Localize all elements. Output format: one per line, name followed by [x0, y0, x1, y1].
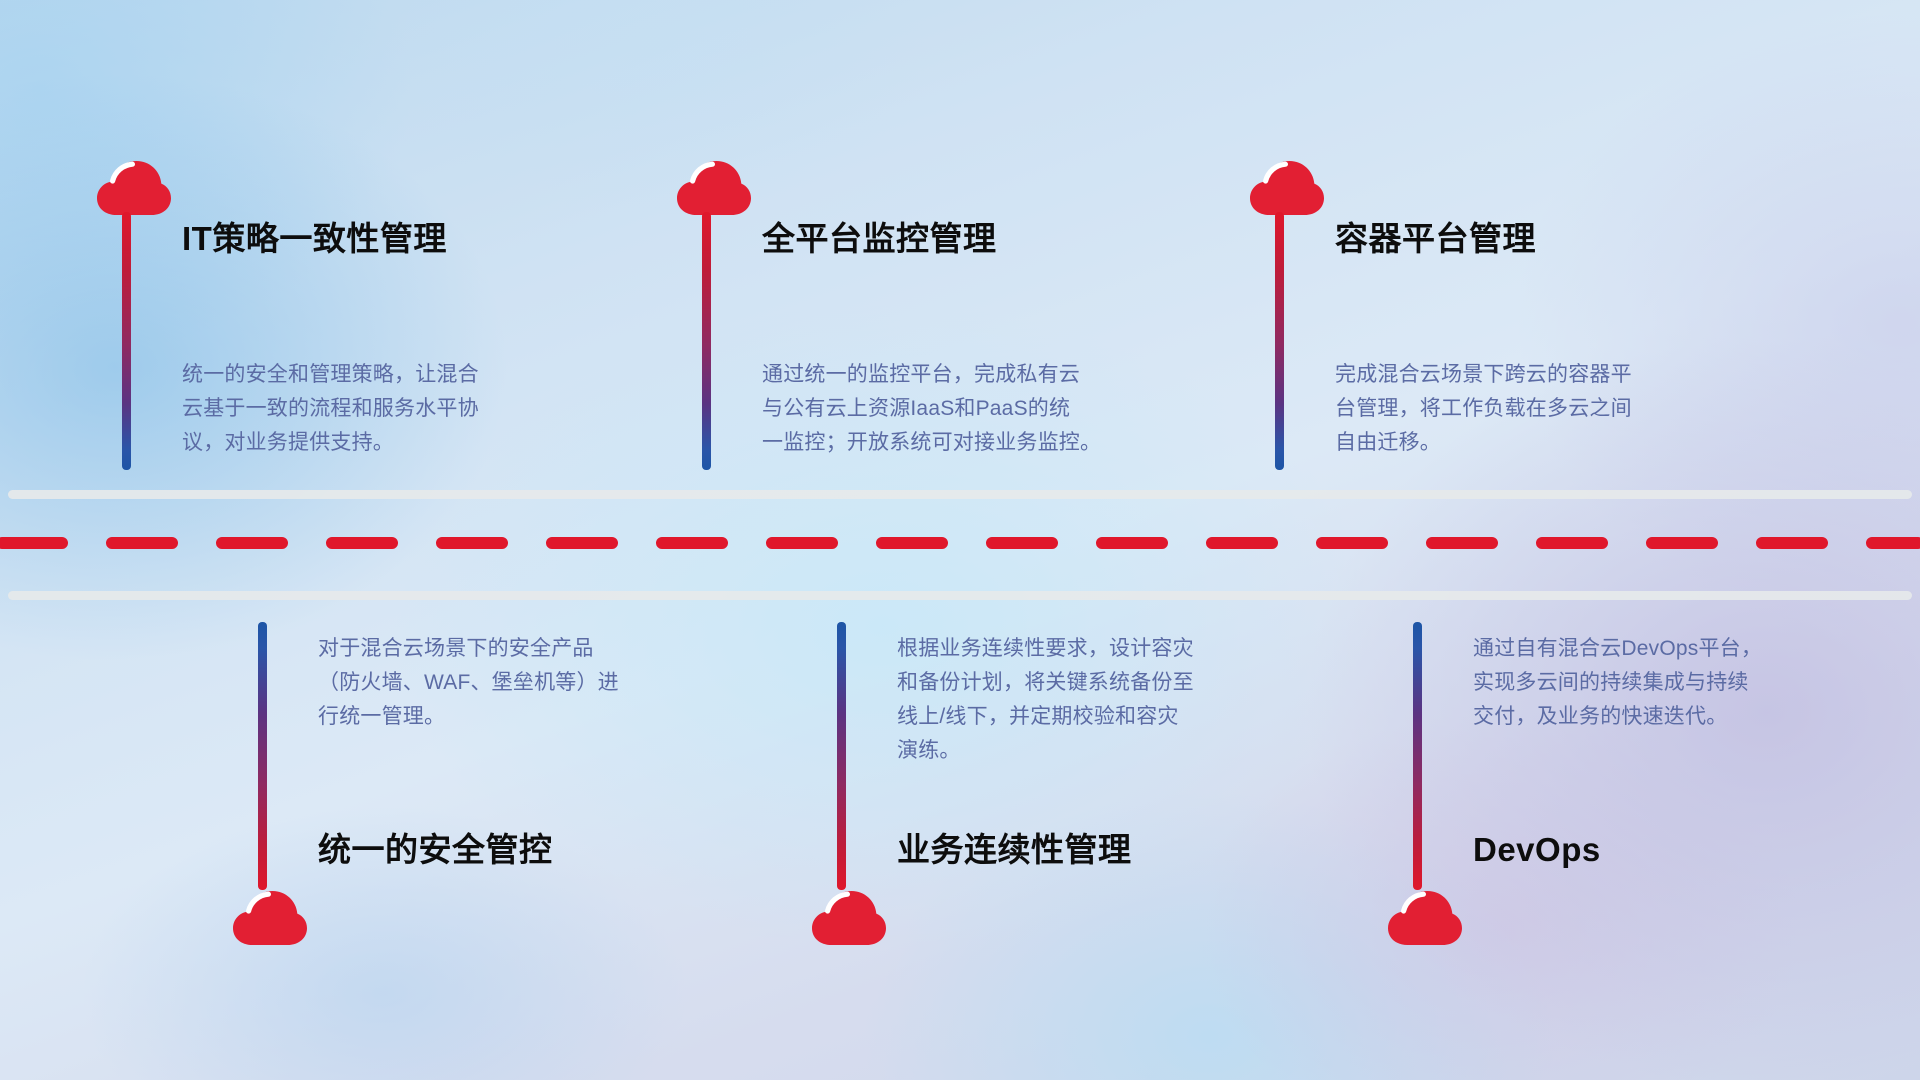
pin-stem	[1275, 212, 1284, 470]
infographic-canvas: IT策略一致性管理 统一的安全和管理策略，让混合 云基于一致的流程和服务水平协 …	[0, 0, 1920, 1080]
cloud-icon	[96, 160, 172, 216]
node-body: 通过自有混合云DevOps平台， 实现多云间的持续集成与持续 交付，及业务的快速…	[1473, 632, 1903, 734]
pin-stem	[258, 622, 267, 890]
node-title: DevOps	[1473, 833, 1601, 866]
cloud-icon	[811, 890, 887, 946]
road-edge-bottom	[8, 591, 1912, 600]
road-center-dashes	[0, 537, 1920, 549]
node-body: 根据业务连续性要求，设计容灾 和备份计划，将关键系统备份至 线上/线下，并定期校…	[897, 632, 1327, 768]
node-title: 业务连续性管理	[897, 833, 1132, 866]
node-title: 全平台监控管理	[762, 222, 997, 255]
cloud-icon	[1387, 890, 1463, 946]
node-title: 容器平台管理	[1335, 222, 1536, 255]
road-divider	[0, 490, 1920, 600]
cloud-icon	[676, 160, 752, 216]
cloud-icon	[1249, 160, 1325, 216]
node-body: 对于混合云场景下的安全产品 （防火墙、WAF、堡垒机等）进 行统一管理。	[318, 632, 748, 734]
node-body: 通过统一的监控平台，完成私有云 与公有云上资源IaaS和PaaS的统 一监控；开…	[762, 358, 1212, 460]
node-title: IT策略一致性管理	[182, 222, 447, 255]
road-edge-top	[8, 490, 1912, 499]
node-body: 统一的安全和管理策略，让混合 云基于一致的流程和服务水平协 议，对业务提供支持。	[182, 358, 612, 460]
pin-stem	[1413, 622, 1422, 890]
pin-stem	[702, 212, 711, 470]
pin-stem	[837, 622, 846, 890]
node-title: 统一的安全管控	[318, 833, 553, 866]
node-body: 完成混合云场景下跨云的容器平 台管理，将工作负载在多云之间 自由迁移。	[1335, 358, 1775, 460]
cloud-icon	[232, 890, 308, 946]
pin-stem	[122, 212, 131, 470]
